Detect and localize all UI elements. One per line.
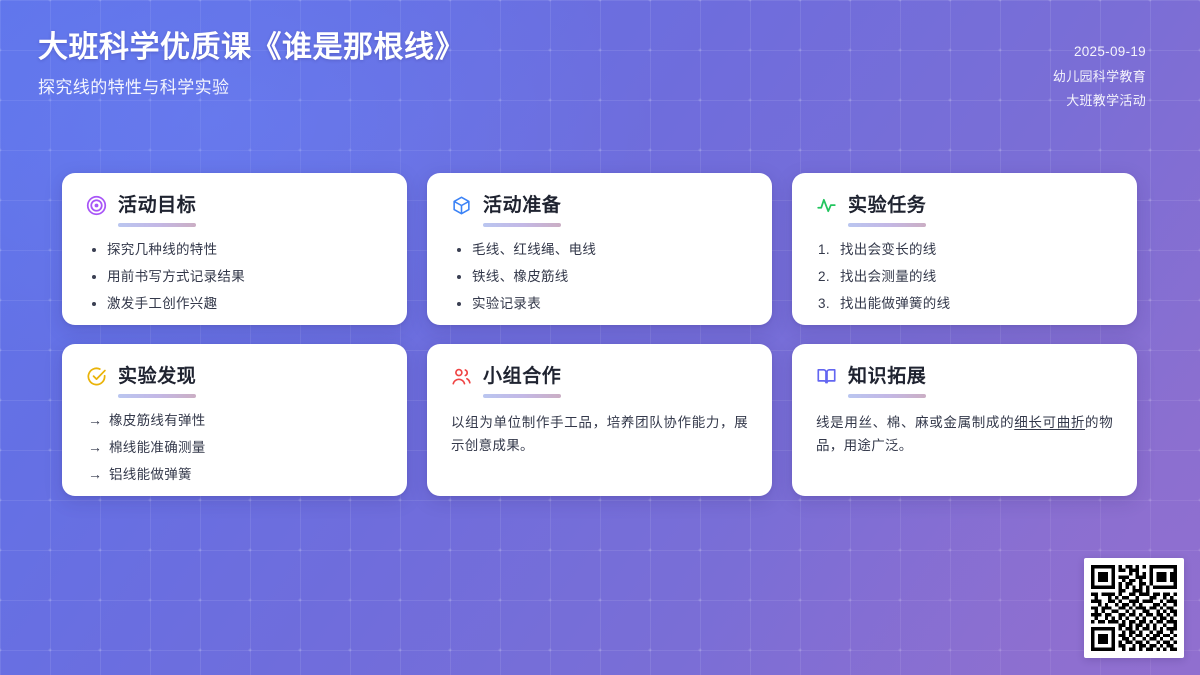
check-circle-icon — [86, 366, 107, 387]
page-subtitle: 探究线的特性与科学实验 — [38, 76, 465, 100]
target-icon — [86, 195, 107, 216]
users-icon — [451, 366, 472, 387]
numbered-list: 找出会变长的线 找出会测量的线 找出能做弹簧的线 — [816, 240, 1113, 315]
header-meta-block: 2025-09-19 幼儿园科学教育 大班教学活动 — [1053, 28, 1146, 113]
card-header: 实验发现 — [86, 366, 383, 387]
card-body: 找出会变长的线 找出会测量的线 找出能做弹簧的线 — [816, 240, 1113, 315]
card-body: 探究几种线的特性 用前书写方式记录结果 激发手工创作兴趣 — [86, 240, 383, 315]
meta-date: 2025-09-19 — [1053, 40, 1146, 65]
card-experiment-findings[interactable]: 实验发现 橡皮筋线有弹性 棉线能准确测量 铝线能做弹簧 — [62, 344, 407, 496]
card-knowledge-extension[interactable]: 知识拓展 线是用丝、棉、麻或金属制成的细长可曲折的物品，用途广泛。 — [792, 344, 1137, 496]
paragraph-text-underlined: 细长可曲折 — [1014, 415, 1085, 430]
qr-code[interactable] — [1084, 558, 1184, 658]
card-activity-goal[interactable]: 活动目标 探究几种线的特性 用前书写方式记录结果 激发手工创作兴趣 — [62, 173, 407, 325]
meta-activity: 大班教学活动 — [1053, 89, 1146, 113]
accent-underline — [848, 223, 926, 227]
list-item: 找出会测量的线 — [818, 267, 1113, 288]
arrow-list: 橡皮筋线有弹性 棉线能准确测量 铝线能做弹簧 — [86, 411, 383, 486]
list-item: 橡皮筋线有弹性 — [88, 411, 383, 432]
bullet-list: 探究几种线的特性 用前书写方式记录结果 激发手工创作兴趣 — [86, 240, 383, 315]
slide-header: 大班科学优质课《谁是那根线》 探究线的特性与科学实验 2025-09-19 幼儿… — [0, 0, 1200, 140]
card-body: 橡皮筋线有弹性 棉线能准确测量 铝线能做弹簧 — [86, 411, 383, 486]
card-paragraph: 以组为单位制作手工品，培养团队协作能力，展示创意成果。 — [451, 411, 748, 457]
card-title: 知识拓展 — [848, 367, 926, 386]
meta-category: 幼儿园科学教育 — [1053, 65, 1146, 89]
cube-icon — [451, 195, 472, 216]
list-item: 激发手工创作兴趣 — [88, 294, 383, 315]
list-item: 找出能做弹簧的线 — [818, 294, 1113, 315]
accent-underline — [848, 394, 926, 398]
card-title: 实验任务 — [848, 196, 926, 215]
card-header: 小组合作 — [451, 366, 748, 387]
list-item: 棉线能准确测量 — [88, 438, 383, 459]
card-body: 毛线、红线绳、电线 铁线、橡皮筋线 实验记录表 — [451, 240, 748, 315]
accent-underline — [118, 223, 196, 227]
accent-underline — [483, 394, 561, 398]
card-title: 活动准备 — [483, 196, 561, 215]
header-title-block: 大班科学优质课《谁是那根线》 探究线的特性与科学实验 — [38, 28, 465, 100]
card-grid: 活动目标 探究几种线的特性 用前书写方式记录结果 激发手工创作兴趣 — [62, 173, 1138, 496]
card-body: 线是用丝、棉、麻或金属制成的细长可曲折的物品，用途广泛。 — [816, 411, 1113, 457]
card-experiment-tasks[interactable]: 实验任务 找出会变长的线 找出会测量的线 找出能做弹簧的线 — [792, 173, 1137, 325]
list-item: 用前书写方式记录结果 — [88, 267, 383, 288]
list-item: 实验记录表 — [453, 294, 748, 315]
activity-pulse-icon — [816, 195, 837, 216]
card-header: 活动准备 — [451, 195, 748, 216]
paragraph-text-before: 线是用丝、棉、麻或金属制成的 — [816, 415, 1014, 430]
list-item: 铁线、橡皮筋线 — [453, 267, 748, 288]
list-item: 找出会变长的线 — [818, 240, 1113, 261]
list-item: 铝线能做弹簧 — [88, 465, 383, 486]
card-title: 实验发现 — [118, 367, 196, 386]
book-icon — [816, 366, 837, 387]
card-activity-preparation[interactable]: 活动准备 毛线、红线绳、电线 铁线、橡皮筋线 实验记录表 — [427, 173, 772, 325]
bullet-list: 毛线、红线绳、电线 铁线、橡皮筋线 实验记录表 — [451, 240, 748, 315]
card-title: 小组合作 — [483, 367, 561, 386]
qr-code-image — [1091, 565, 1177, 651]
card-paragraph: 线是用丝、棉、麻或金属制成的细长可曲折的物品，用途广泛。 — [816, 411, 1113, 457]
page-title: 大班科学优质课《谁是那根线》 — [38, 28, 465, 68]
list-item: 探究几种线的特性 — [88, 240, 383, 261]
slide-root: 大班科学优质课《谁是那根线》 探究线的特性与科学实验 2025-09-19 幼儿… — [0, 0, 1200, 675]
card-header: 实验任务 — [816, 195, 1113, 216]
accent-underline — [483, 223, 561, 227]
card-header: 活动目标 — [86, 195, 383, 216]
card-header: 知识拓展 — [816, 366, 1113, 387]
card-group-cooperation[interactable]: 小组合作 以组为单位制作手工品，培养团队协作能力，展示创意成果。 — [427, 344, 772, 496]
list-item: 毛线、红线绳、电线 — [453, 240, 748, 261]
card-body: 以组为单位制作手工品，培养团队协作能力，展示创意成果。 — [451, 411, 748, 457]
card-title: 活动目标 — [118, 196, 196, 215]
accent-underline — [118, 394, 196, 398]
